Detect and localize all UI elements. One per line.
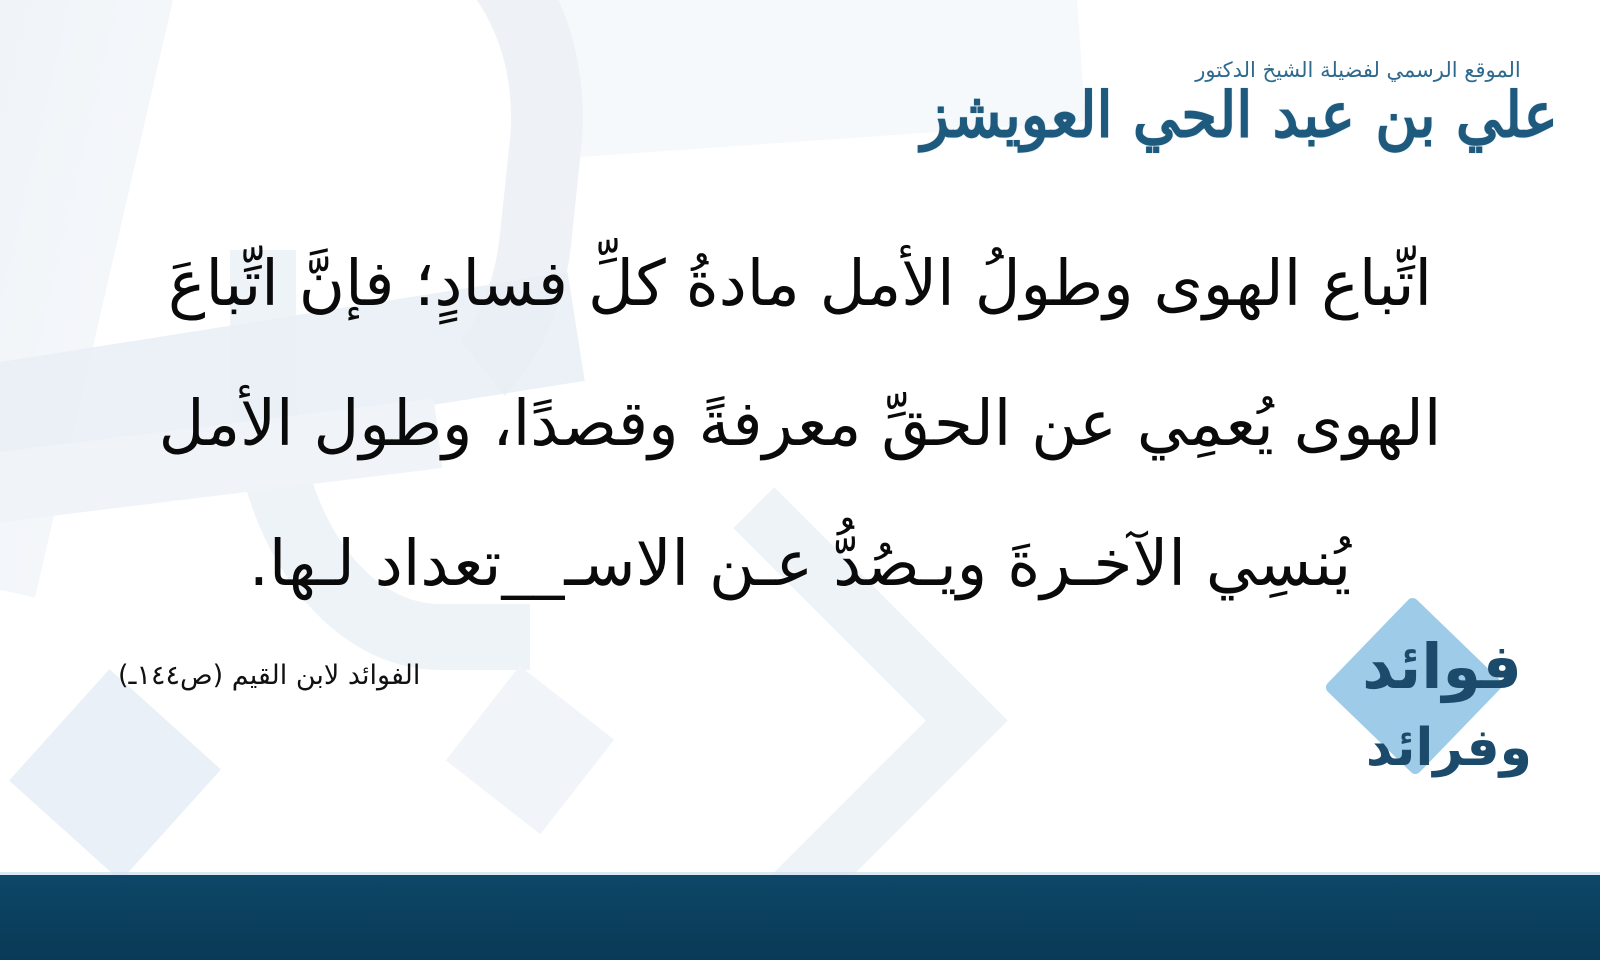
bottom-bar	[0, 875, 1600, 960]
quote-card: الموقع الرسمي لفضيلة الشيخ الدكتور علي ب…	[0, 0, 1600, 960]
quote-line: اتِّباع الهوى وطولُ الأمل مادةُ كلِّ فسا…	[96, 214, 1504, 354]
site-logo[interactable]: الموقع الرسمي لفضيلة الشيخ الدكتور علي ب…	[1158, 58, 1558, 146]
brand-word-top: فوائد	[1362, 636, 1522, 698]
source-citation: الفوائد لابن القيم (ص١٤٤ـ)	[118, 660, 420, 691]
quote-line: الهوى يُعمِي عن الحقِّ معرفةً وقصدًا، وط…	[96, 354, 1504, 494]
watermark-diamond-center	[446, 666, 614, 834]
site-logo-calligraphic-name: علي بن عبد الحي العويشز	[1158, 83, 1558, 149]
brand-badge[interactable]: فوائد وفرائد	[1240, 612, 1540, 812]
watermark-diamond-left	[9, 669, 221, 881]
quote-text: اتِّباع الهوى وطولُ الأمل مادةُ كلِّ فسا…	[96, 214, 1504, 634]
brand-word-bottom: وفرائد	[1366, 722, 1532, 774]
